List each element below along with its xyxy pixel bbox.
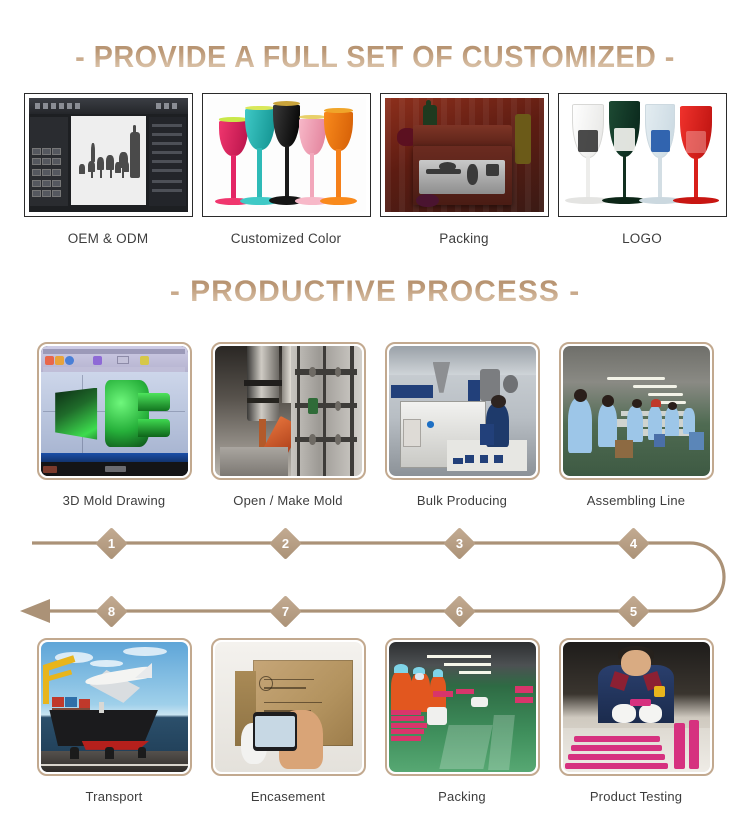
cad-software-illustration bbox=[29, 98, 188, 212]
customized-item[interactable]: LOGO bbox=[558, 93, 727, 246]
logo-flutes-illustration bbox=[563, 98, 722, 212]
process-step[interactable]: 3D Mold Drawing bbox=[37, 342, 192, 508]
customized-item-frame[interactable] bbox=[24, 93, 193, 217]
flow-step-marker-6[interactable]: 6 bbox=[443, 595, 476, 628]
process-steps-top-row: 3D Mold Drawing bbox=[0, 342, 750, 508]
customized-item[interactable]: Packing bbox=[380, 93, 549, 246]
process-steps-bottom-row: Transport bbox=[0, 638, 750, 804]
gift-box-photo-illustration bbox=[385, 98, 544, 212]
customized-item-frame[interactable] bbox=[380, 93, 549, 217]
process-step-label: Transport bbox=[37, 789, 192, 804]
process-step-frame[interactable] bbox=[37, 342, 192, 480]
process-step-frame[interactable] bbox=[559, 342, 714, 480]
colored-flutes-illustration bbox=[207, 98, 366, 212]
process-step-label: Open / Make Mold bbox=[211, 493, 366, 508]
process-step-frame[interactable] bbox=[211, 342, 366, 480]
flow-step-marker-7[interactable]: 7 bbox=[269, 595, 302, 628]
process-step-frame[interactable] bbox=[559, 638, 714, 776]
flow-step-marker-4[interactable]: 4 bbox=[617, 527, 650, 560]
process-step[interactable]: Assembling Line bbox=[559, 342, 714, 508]
cad-3d-mold-illustration bbox=[41, 346, 188, 476]
customized-item-frame[interactable] bbox=[202, 93, 371, 217]
factory-machine-illustration bbox=[389, 346, 536, 476]
process-step-label: Assembling Line bbox=[559, 493, 714, 508]
flow-step-marker-3[interactable]: 3 bbox=[443, 527, 476, 560]
ship-plane-illustration bbox=[41, 642, 188, 772]
process-step-label: Encasement bbox=[211, 789, 366, 804]
process-step-frame[interactable] bbox=[385, 342, 540, 480]
process-step-label: Bulk Producing bbox=[385, 493, 540, 508]
process-step-label: Packing bbox=[385, 789, 540, 804]
flow-step-marker-2[interactable]: 2 bbox=[269, 527, 302, 560]
carton-scanner-illustration bbox=[215, 642, 362, 772]
page-title-productive-process: - PRODUCTIVE PROCESS - bbox=[0, 273, 750, 311]
process-step-label: Product Testing bbox=[559, 789, 714, 804]
flow-step-marker-5[interactable]: 5 bbox=[617, 595, 650, 628]
customized-item-label: OEM & ODM bbox=[24, 231, 193, 246]
process-step-frame[interactable] bbox=[211, 638, 366, 776]
customized-item-label: Packing bbox=[380, 231, 549, 246]
product-testing-illustration bbox=[563, 642, 710, 772]
process-step[interactable]: Open / Make Mold bbox=[211, 342, 366, 508]
page-title-customized: - PROVIDE A FULL SET OF CUSTOMIZED - bbox=[26, 38, 724, 76]
flow-step-marker-1[interactable]: 1 bbox=[95, 527, 128, 560]
process-step[interactable]: Packing bbox=[385, 638, 540, 804]
customized-item-label: Customized Color bbox=[202, 231, 371, 246]
customized-item-frame[interactable] bbox=[558, 93, 727, 217]
process-step-frame[interactable] bbox=[37, 638, 192, 776]
process-flow-track: 1 2 3 4 8 7 6 5 bbox=[0, 515, 750, 633]
assembly-line-illustration bbox=[563, 346, 710, 476]
process-step[interactable]: Product Testing bbox=[559, 638, 714, 804]
process-step-frame[interactable] bbox=[385, 638, 540, 776]
customized-item[interactable]: OEM & ODM bbox=[24, 93, 193, 246]
cnc-machining-illustration bbox=[215, 346, 362, 476]
customized-item-label: LOGO bbox=[558, 231, 727, 246]
packing-line-illustration bbox=[389, 642, 536, 772]
flow-step-marker-8[interactable]: 8 bbox=[95, 595, 128, 628]
process-step[interactable]: Transport bbox=[37, 638, 192, 804]
customized-items-row: OEM & ODM bbox=[0, 93, 750, 246]
process-step-label: 3D Mold Drawing bbox=[37, 493, 192, 508]
customized-item[interactable]: Customized Color bbox=[202, 93, 371, 246]
process-step[interactable]: Encasement bbox=[211, 638, 366, 804]
process-step[interactable]: Bulk Producing bbox=[385, 342, 540, 508]
